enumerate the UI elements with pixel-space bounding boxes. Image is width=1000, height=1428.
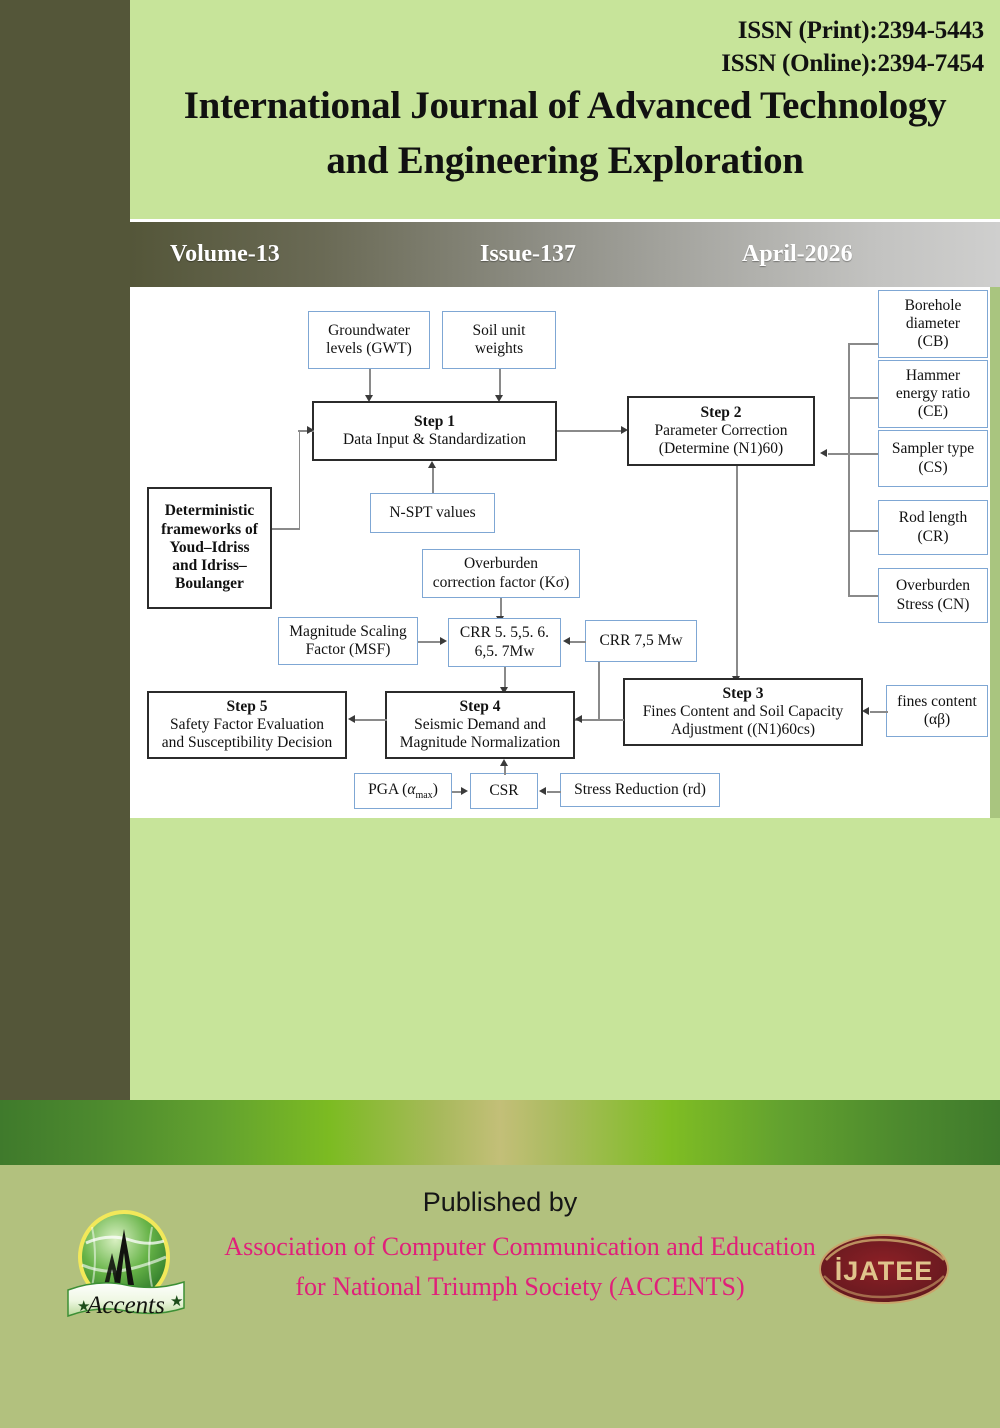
node-hammer-energy-ratio: Hammer energy ratio (CE) xyxy=(878,360,988,428)
msf-line2: Factor (MSF) xyxy=(306,641,391,658)
connector-crr75-to-crrmulti xyxy=(570,641,586,643)
soil-unit-line2: weights xyxy=(475,340,523,357)
left-spine-band-lower xyxy=(0,287,130,1100)
publisher-line1: Association of Computer Communication an… xyxy=(150,1227,890,1267)
connector-correction-bus xyxy=(848,343,850,596)
hammer-line3: (CE) xyxy=(918,403,948,420)
overburden-cn-line1: Overburden xyxy=(896,577,970,594)
connector-crr75-down xyxy=(598,662,600,720)
page-title: International Journal of Advanced Techno… xyxy=(130,78,1000,189)
deterministic-line2: frameworks of xyxy=(161,521,258,538)
deterministic-line4: and Idriss– xyxy=(172,557,247,574)
crr-multi-line2: 6,5. 7Mw xyxy=(475,643,535,660)
arrowhead-pga-csr xyxy=(461,787,468,795)
fines-line1: fines content xyxy=(897,693,977,710)
node-nspt-values: N-SPT values xyxy=(370,493,495,533)
node-step5: Step 5 Safety Factor Evaluation and Susc… xyxy=(147,691,347,759)
deterministic-line1: Deterministic xyxy=(165,502,255,519)
hammer-line1: Hammer xyxy=(906,367,960,384)
cover-figure-panel: Groundwater levels (GWT) Soil unit weigh… xyxy=(130,287,990,818)
soil-unit-line1: Soil unit xyxy=(473,322,526,339)
step1-title: Step 1 xyxy=(414,413,455,430)
node-deterministic-frameworks: Deterministic frameworks of Youd–Idriss … xyxy=(147,487,272,609)
arrowhead-fines-step3 xyxy=(862,707,869,715)
ijatee-wordmark-text: İJATEE xyxy=(835,1256,934,1286)
issue-label: Issue-137 xyxy=(480,241,576,268)
nspt-label: N-SPT values xyxy=(389,504,475,521)
svg-text:★: ★ xyxy=(77,1299,90,1315)
connector-step3-to-step4 xyxy=(582,719,624,721)
arrowhead-rd-csr xyxy=(539,787,546,795)
connector-kor-to-crr xyxy=(500,598,502,618)
connector-msf-to-crr xyxy=(418,641,442,643)
sampler-line2: (CS) xyxy=(918,459,947,476)
msf-line1: Magnitude Scaling xyxy=(289,623,407,640)
node-groundwater-levels: Groundwater levels (GWT) xyxy=(308,311,430,369)
ijatee-logo: İJATEE xyxy=(818,1232,950,1306)
connector-cn-stub xyxy=(848,595,878,597)
connector-det-h1 xyxy=(272,528,300,530)
deterministic-line3: Youd–Idriss xyxy=(169,539,249,556)
connector-crrmulti-to-step4 xyxy=(504,667,506,689)
figure-right-edge-strip xyxy=(990,287,1000,818)
node-rod-length: Rod length (CR) xyxy=(878,500,988,555)
journal-cover: ISSN (Print):2394-5443 ISSN (Online):239… xyxy=(0,0,1000,1428)
node-overburden-stress-cn: Overburden Stress (CN) xyxy=(878,568,988,623)
step3-line2: Adjustment ((N1)60cs) xyxy=(671,721,815,738)
step4-line2: Magnitude Normalization xyxy=(400,734,561,751)
rod-line1: Rod length xyxy=(899,509,967,526)
stress-reduction-label: Stress Reduction (rd) xyxy=(574,781,706,798)
connector-cr-stub xyxy=(848,530,878,532)
connector-cb-stub xyxy=(848,343,878,345)
csr-label: CSR xyxy=(489,782,518,799)
borehole-line1: Borehole xyxy=(905,297,962,314)
node-overburden-correction-factor: Overburden correction factor (Kσ) xyxy=(422,549,580,598)
arrowhead-csr-step4 xyxy=(500,759,508,766)
volume-label: Volume-13 xyxy=(170,241,280,268)
issn-online: ISSN (Online):2394-7454 xyxy=(721,47,984,80)
step5-title: Step 5 xyxy=(227,698,268,715)
rod-line2: (CR) xyxy=(918,528,949,545)
step5-line2: and Susceptibility Decision xyxy=(162,734,332,751)
connector-gwt-to-step1 xyxy=(369,369,371,397)
connector-step1-to-step2 xyxy=(557,430,623,432)
borehole-line3: (CB) xyxy=(918,333,949,350)
step1-body: Data Input & Standardization xyxy=(343,431,526,448)
connector-step4-to-step5 xyxy=(355,719,387,721)
arrowhead-step4-step5 xyxy=(348,715,355,723)
borehole-line2: diameter xyxy=(906,315,960,332)
arrowhead-nspt-step1 xyxy=(428,461,436,468)
arrowhead-step3-step4 xyxy=(575,715,582,723)
node-step2: Step 2 Parameter Correction (Determine (… xyxy=(627,396,815,466)
lower-green-field xyxy=(130,818,1000,1100)
connector-cs-stub xyxy=(848,453,878,455)
node-sampler-type: Sampler type (CS) xyxy=(878,430,988,487)
connector-fines-to-step3 xyxy=(870,711,888,713)
fines-line2: (αβ) xyxy=(924,711,950,728)
hammer-line2: energy ratio xyxy=(896,385,970,402)
gradient-divider-band xyxy=(0,1100,1000,1165)
node-crr-75mw: CRR 7,5 Mw xyxy=(585,620,697,662)
issn-block: ISSN (Print):2394-5443 ISSN (Online):239… xyxy=(721,14,984,81)
svg-text:★: ★ xyxy=(170,1294,183,1310)
node-crr-multi-magnitude: CRR 5. 5,5. 6. 6,5. 7Mw xyxy=(448,618,561,667)
crr-75-label: CRR 7,5 Mw xyxy=(599,632,682,649)
node-step3: Step 3 Fines Content and Soil Capacity A… xyxy=(623,678,863,746)
arrowhead-det-step1 xyxy=(307,426,314,434)
node-fines-content: fines content (αβ) xyxy=(886,685,988,737)
accents-wordmark-text: Accents xyxy=(85,1292,165,1319)
groundwater-line2: levels (GWT) xyxy=(326,340,412,357)
publisher-name: Association of Computer Communication an… xyxy=(150,1227,890,1308)
connector-step2-to-step3 xyxy=(736,466,738,678)
crr-multi-line1: CRR 5. 5,5. 6. xyxy=(460,624,549,641)
kor-line1: Overburden xyxy=(464,555,538,572)
deterministic-line5: Boulanger xyxy=(175,575,244,592)
connector-det-v1 xyxy=(299,431,301,529)
publisher-line2: for National Triumph Society (ACCENTS) xyxy=(150,1267,890,1307)
step3-title: Step 3 xyxy=(723,685,764,702)
node-csr: CSR xyxy=(470,773,538,809)
connector-bus-to-step2 xyxy=(828,453,852,455)
volume-issue-bar: Volume-13 Issue-137 April-2026 xyxy=(130,222,1000,287)
liquefaction-flowchart: Groundwater levels (GWT) Soil unit weigh… xyxy=(130,287,990,818)
node-step1: Step 1 Data Input & Standardization xyxy=(312,401,557,461)
step4-line1: Seismic Demand and xyxy=(414,716,546,733)
date-label: April-2026 xyxy=(742,241,853,268)
node-step4: Step 4 Seismic Demand and Magnitude Norm… xyxy=(385,691,575,759)
connector-ce-stub xyxy=(848,397,878,399)
step5-line1: Safety Factor Evaluation xyxy=(170,716,324,733)
step2-line2: (Determine (N1)60) xyxy=(659,440,783,457)
accents-logo: Accents ★ ★ xyxy=(62,1207,190,1325)
overburden-cn-line2: Stress (CN) xyxy=(897,596,970,613)
step3-line1: Fines Content and Soil Capacity xyxy=(643,703,844,720)
kor-line2: correction factor (Kσ) xyxy=(433,574,570,591)
node-pga: PGA (αmax) xyxy=(354,773,452,809)
node-borehole-diameter: Borehole diameter (CB) xyxy=(878,290,988,358)
node-magnitude-scaling-factor: Magnitude Scaling Factor (MSF) xyxy=(278,617,418,665)
issn-print: ISSN (Print):2394-5443 xyxy=(721,14,984,47)
step4-title: Step 4 xyxy=(460,698,501,715)
node-stress-reduction: Stress Reduction (rd) xyxy=(560,773,720,807)
connector-rd-to-csr xyxy=(547,791,561,793)
groundwater-line1: Groundwater xyxy=(328,322,410,339)
masthead: ISSN (Print):2394-5443 ISSN (Online):239… xyxy=(130,0,1000,219)
node-soil-unit-weights: Soil unit weights xyxy=(442,311,556,369)
step2-title: Step 2 xyxy=(701,404,742,421)
arrowhead-bus-step2 xyxy=(820,449,827,457)
connector-soil-to-step1 xyxy=(499,369,501,397)
connector-csr-to-step4 xyxy=(504,765,506,775)
step2-line1: Parameter Correction xyxy=(655,422,788,439)
arrowhead-crr75-crrmulti xyxy=(563,637,570,645)
connector-nspt-to-step1 xyxy=(432,467,434,493)
sampler-line1: Sampler type xyxy=(892,440,974,457)
arrowhead-msf-crr xyxy=(440,637,447,645)
